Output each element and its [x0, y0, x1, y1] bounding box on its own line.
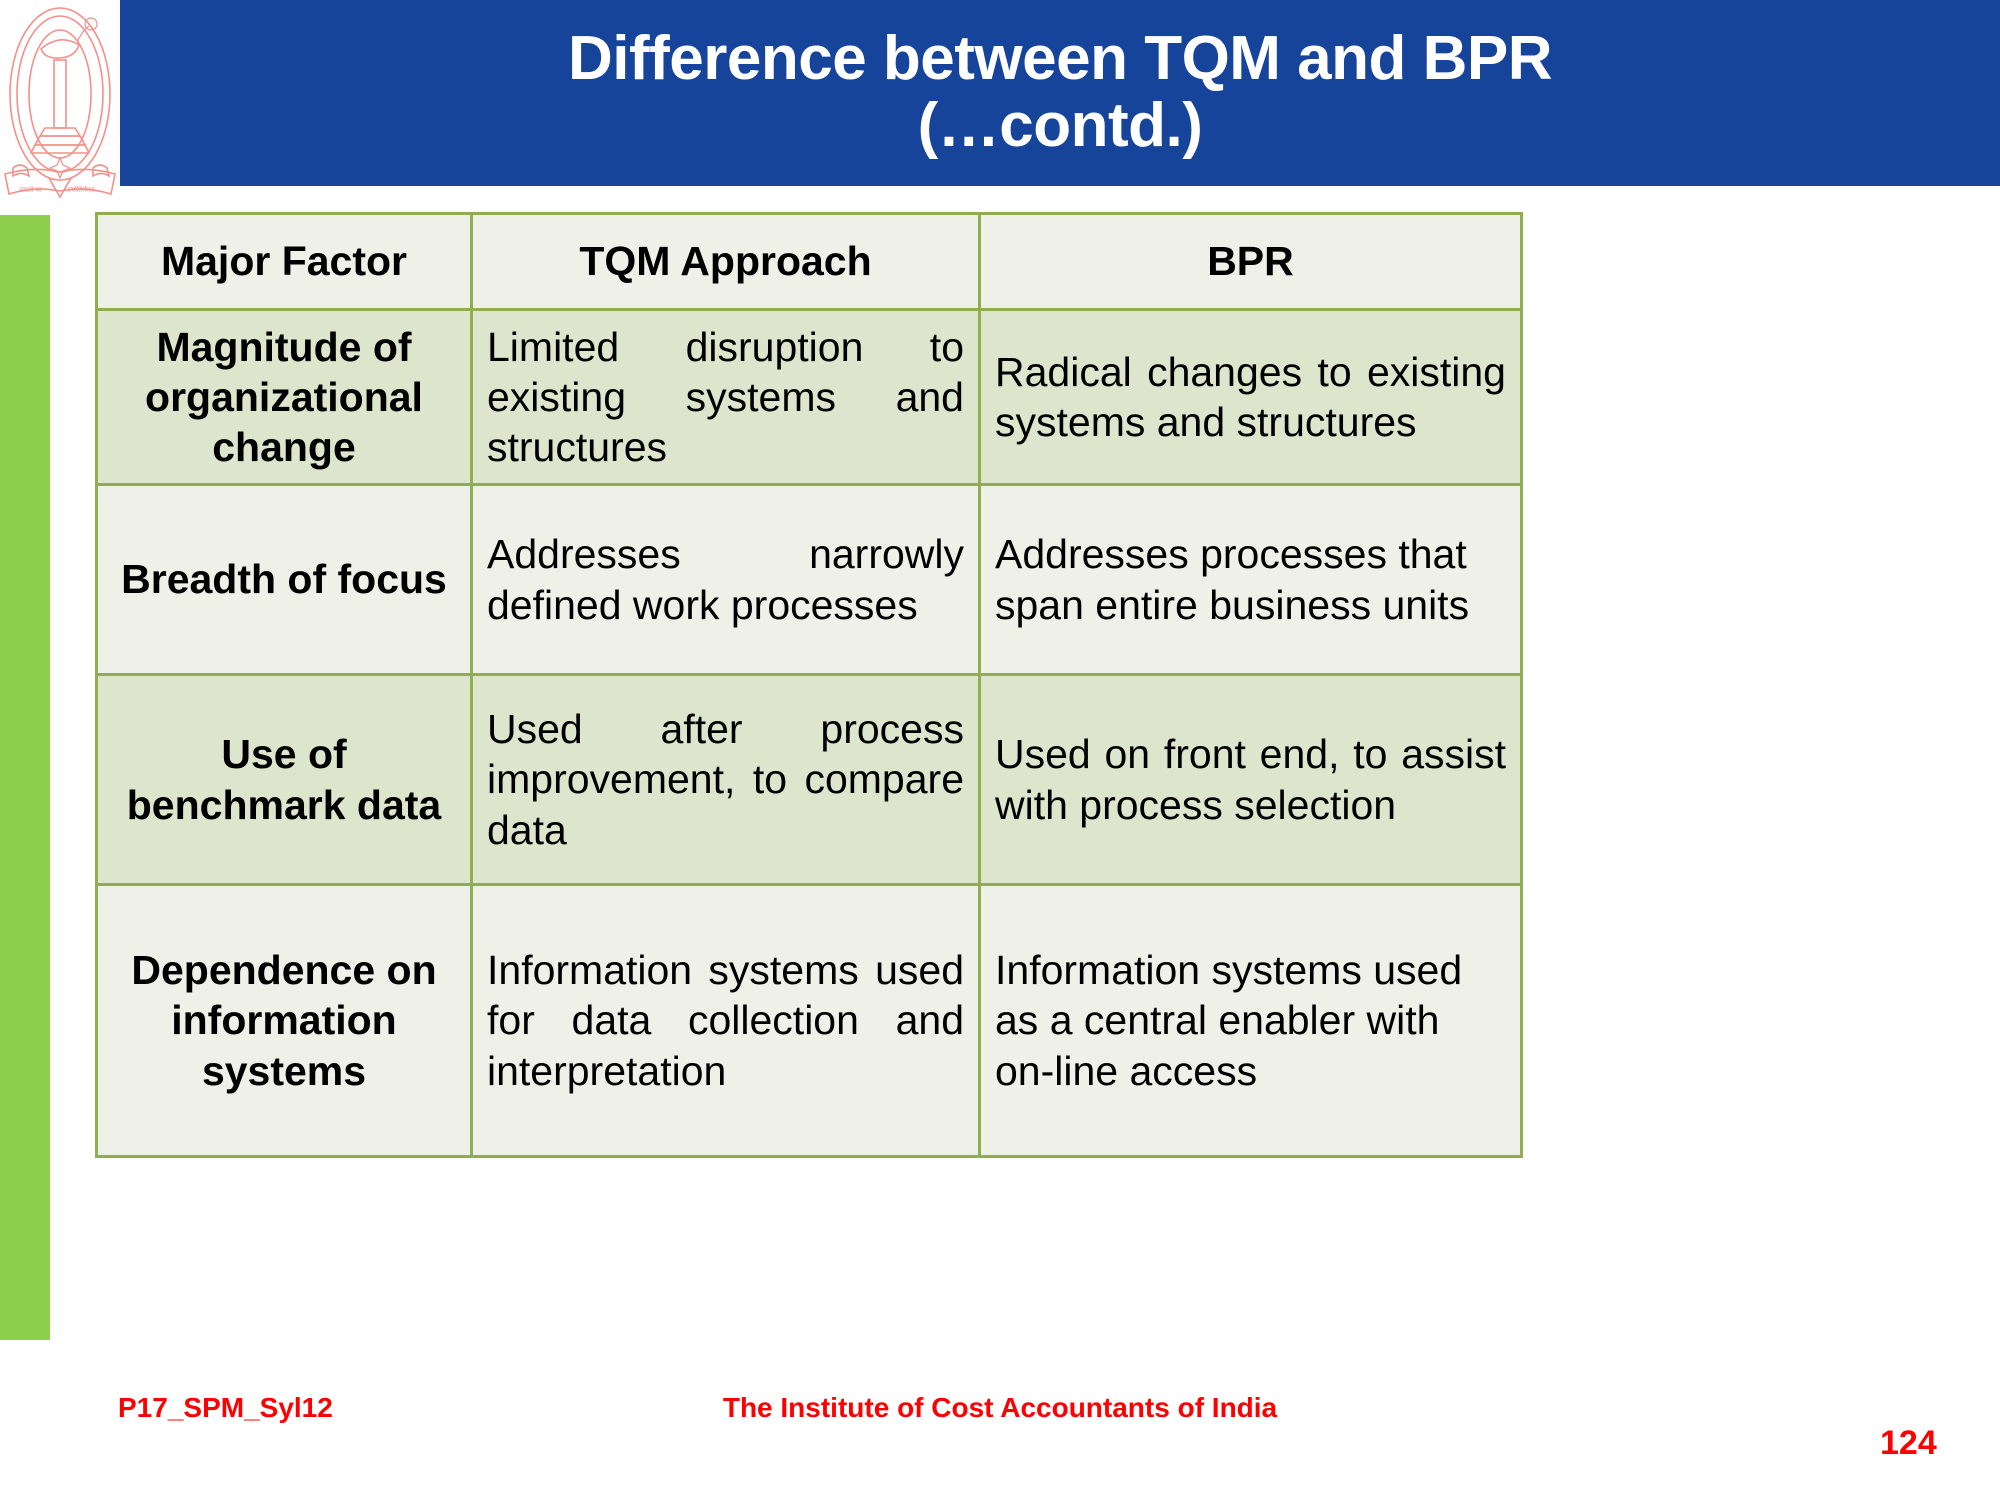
tqm-bpr-comparison-table: Major Factor TQM Approach BPR Magnitude …: [95, 212, 1523, 1158]
row-tqm-text: Used after process improvement, to compa…: [472, 675, 980, 885]
row-factor-label: Breadth of focus: [97, 485, 472, 675]
row-bpr-text: Information systems used as a central en…: [980, 885, 1522, 1157]
table-row: Dependence on information systems Inform…: [97, 885, 1522, 1157]
row-factor-label: Dependence on information systems: [97, 885, 472, 1157]
row-tqm-text: Information systems used for data collec…: [472, 885, 980, 1157]
row-bpr-text: Addresses processes that span entire bus…: [980, 485, 1522, 675]
column-header-bpr: BPR: [980, 214, 1522, 310]
svg-text:तमसो मा: तमसो मा: [19, 185, 42, 194]
column-header-tqm-approach: TQM Approach: [472, 214, 980, 310]
table-row: Use of benchmark data Used after process…: [97, 675, 1522, 885]
left-accent-strip: [0, 215, 50, 1340]
institute-seal-icon: तमसो मा ज्योतिर्गमय: [1, 2, 119, 198]
row-factor-label: Magnitude of organizational change: [97, 310, 472, 485]
table-header-row: Major Factor TQM Approach BPR: [97, 214, 1522, 310]
row-tqm-text: Limited disruption to existing systems a…: [472, 310, 980, 485]
institute-logo: तमसो मा ज्योतिर्गमय: [0, 0, 120, 200]
svg-text:ज्योतिर्गमय: ज्योतिर्गमय: [67, 185, 96, 194]
title-banner: Difference between TQM and BPR (…contd.): [120, 0, 2000, 186]
table-row: Breadth of focus Addresses narrowly defi…: [97, 485, 1522, 675]
table-row: Magnitude of organizational change Limit…: [97, 310, 1522, 485]
row-tqm-text: Addresses narrowly defined work processe…: [472, 485, 980, 675]
row-bpr-text: Radical changes to existing systems and …: [980, 310, 1522, 485]
page-title: Difference between TQM and BPR (…contd.): [508, 26, 1612, 160]
row-bpr-text: Used on front end, to assist with proces…: [980, 675, 1522, 885]
footer-institute-name: The Institute of Cost Accountants of Ind…: [0, 1392, 2000, 1424]
page-number: 124: [1880, 1424, 1937, 1463]
column-header-major-factor: Major Factor: [97, 214, 472, 310]
row-factor-label: Use of benchmark data: [97, 675, 472, 885]
